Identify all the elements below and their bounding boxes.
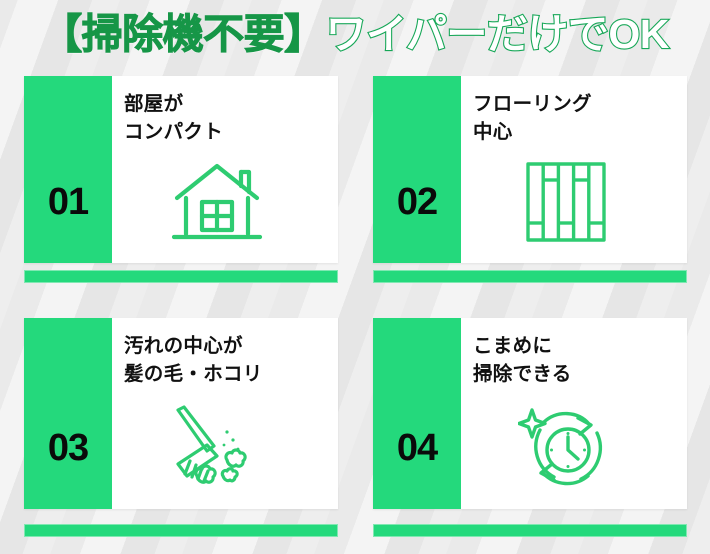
card-number: 03 — [48, 429, 88, 467]
card-body: フローリング 中心 — [461, 76, 687, 263]
card-number: 02 — [397, 183, 437, 221]
card-icon-area — [124, 389, 328, 503]
card-icon-area — [124, 147, 328, 257]
title-bracket-text: 【掃除機不要】 — [41, 14, 325, 55]
card-title: 汚れの中心が 髪の毛・ホコリ — [124, 332, 328, 389]
slide-canvas: 【掃除機不要】 ワイパーだけでOK 01 部屋が コンパクト — [0, 0, 710, 554]
page-title: 【掃除機不要】 ワイパーだけでOK — [0, 6, 710, 62]
card-title: 部屋が コンパクト — [124, 90, 328, 147]
card-04[interactable]: 04 こまめに 掃除できる — [373, 318, 687, 509]
card-number: 01 — [48, 183, 88, 221]
clock-refresh-icon — [518, 400, 614, 492]
card-number-panel: 01 — [24, 76, 112, 263]
flooring-planks-icon — [525, 161, 607, 243]
card-icon-area — [473, 389, 677, 503]
card-02-accent-bar — [373, 270, 687, 283]
card-body: こまめに 掃除できる — [461, 318, 687, 509]
card-03-accent-bar — [24, 524, 338, 537]
card-number-panel: 03 — [24, 318, 112, 509]
house-icon — [171, 158, 263, 246]
card-number-panel: 04 — [373, 318, 461, 509]
title-outline-text: ワイパーだけでOK — [326, 14, 669, 55]
card-body: 部屋が コンパクト — [112, 76, 338, 263]
card-02[interactable]: 02 フローリング 中心 — [373, 76, 687, 263]
card-icon-area — [473, 147, 677, 257]
card-title: フローリング 中心 — [473, 90, 677, 147]
card-03[interactable]: 03 汚れの中心が 髪の毛・ホコリ — [24, 318, 338, 509]
card-body: 汚れの中心が 髪の毛・ホコリ — [112, 318, 338, 509]
card-number-panel: 02 — [373, 76, 461, 263]
broom-dust-icon — [167, 404, 267, 488]
card-04-accent-bar — [373, 524, 687, 537]
card-number: 04 — [397, 429, 437, 467]
card-01[interactable]: 01 部屋が コンパクト — [24, 76, 338, 263]
card-title: こまめに 掃除できる — [473, 332, 677, 389]
card-01-accent-bar — [24, 270, 338, 283]
